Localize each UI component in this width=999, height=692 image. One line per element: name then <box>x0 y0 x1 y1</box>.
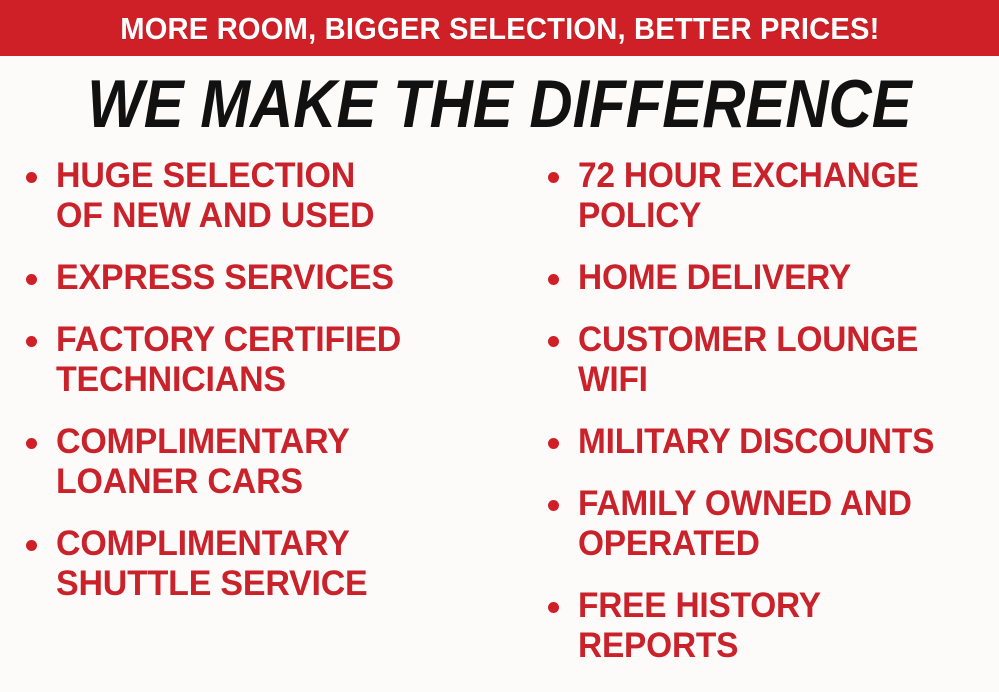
list-item: 72 HOUR EXCHANGE POLICY <box>540 156 997 236</box>
feature-label: HUGE SELECTION OF NEW AND USED <box>56 156 494 236</box>
bullet-dot-icon <box>26 540 37 551</box>
feature-list-right: 72 HOUR EXCHANGE POLICY HOME DELIVERY CU… <box>540 156 997 666</box>
bullet-dot-icon <box>548 274 559 285</box>
bullet-dot-icon <box>548 336 559 347</box>
list-item: CUSTOMER LOUNGE WIFI <box>540 320 997 400</box>
list-item: HUGE SELECTION OF NEW AND USED <box>18 156 508 236</box>
headline-container: WE MAKE THE DIFFERENCE <box>0 66 999 142</box>
promo-banner: MORE ROOM, BIGGER SELECTION, BETTER PRIC… <box>0 0 999 56</box>
advertisement-banner: MORE ROOM, BIGGER SELECTION, BETTER PRIC… <box>0 0 999 692</box>
bullet-dot-icon <box>26 274 37 285</box>
list-item: COMPLIMENTARY LOANER CARS <box>18 422 508 502</box>
features-columns: HUGE SELECTION OF NEW AND USED EXPRESS S… <box>0 156 999 692</box>
list-item: EXPRESS SERVICES <box>18 258 508 298</box>
feature-label: COMPLIMENTARY LOANER CARS <box>56 422 494 502</box>
feature-label: FREE HISTORY REPORTS <box>578 586 978 666</box>
feature-label: HOME DELIVERY <box>578 258 978 298</box>
feature-label: EXPRESS SERVICES <box>56 258 494 298</box>
promo-banner-text: MORE ROOM, BIGGER SELECTION, BETTER PRIC… <box>120 13 879 44</box>
feature-label: COMPLIMENTARY SHUTTLE SERVICE <box>56 524 494 604</box>
list-item: COMPLIMENTARY SHUTTLE SERVICE <box>18 524 508 604</box>
feature-label: FAMILY OWNED AND OPERATED <box>578 484 978 564</box>
feature-label: 72 HOUR EXCHANGE POLICY <box>578 156 978 236</box>
feature-label: MILITARY DISCOUNTS <box>578 422 978 462</box>
list-item: FREE HISTORY REPORTS <box>540 586 997 666</box>
feature-label: FACTORY CERTIFIED TECHNICIANS <box>56 320 494 400</box>
list-item: MILITARY DISCOUNTS <box>540 422 997 462</box>
bullet-dot-icon <box>548 602 559 613</box>
bullet-dot-icon <box>26 172 37 183</box>
page-title: WE MAKE THE DIFFERENCE <box>87 70 911 138</box>
bullet-dot-icon <box>548 438 559 449</box>
bullet-dot-icon <box>548 172 559 183</box>
features-column-left: HUGE SELECTION OF NEW AND USED EXPRESS S… <box>0 156 512 604</box>
feature-list-left: HUGE SELECTION OF NEW AND USED EXPRESS S… <box>18 156 508 604</box>
features-column-right: 72 HOUR EXCHANGE POLICY HOME DELIVERY CU… <box>512 156 999 666</box>
list-item: HOME DELIVERY <box>540 258 997 298</box>
feature-label: CUSTOMER LOUNGE WIFI <box>578 320 978 400</box>
bullet-dot-icon <box>548 500 559 511</box>
bullet-dot-icon <box>26 336 37 347</box>
bullet-dot-icon <box>26 438 37 449</box>
list-item: FACTORY CERTIFIED TECHNICIANS <box>18 320 508 400</box>
list-item: FAMILY OWNED AND OPERATED <box>540 484 997 564</box>
